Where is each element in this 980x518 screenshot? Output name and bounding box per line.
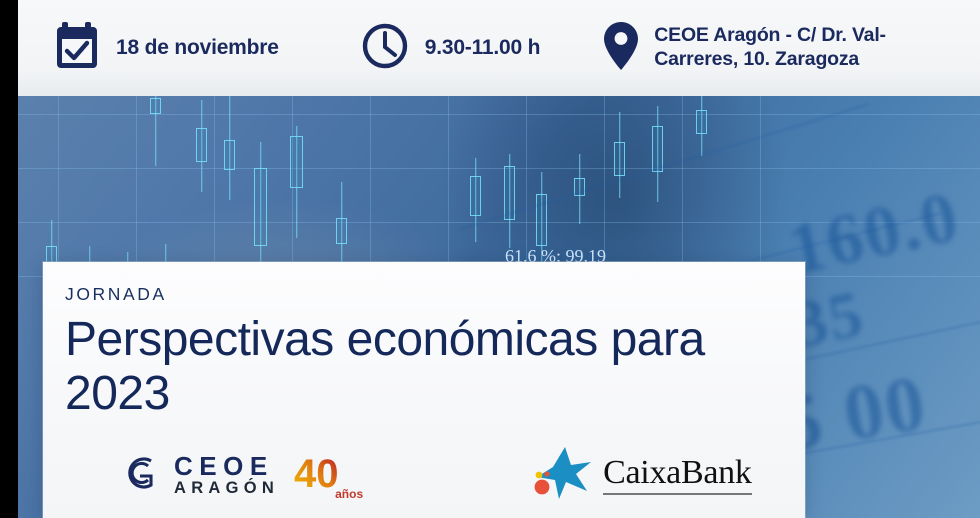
header-place-item: CEOE Aragón - C/ Dr. Val-Carreres, 10. Z…	[604, 21, 922, 76]
header-date-item: 18 de noviembre	[54, 21, 279, 76]
svg-text:40: 40	[294, 452, 339, 495]
ceoe-wordmark-line2: ARAGÓN	[174, 479, 279, 497]
map-pin-icon	[604, 21, 638, 76]
caixabank-wordmark: CaixaBank	[603, 455, 751, 495]
ceoe-monogram-icon	[121, 452, 163, 499]
ceoe-aragon-logo: CEOE ARAGÓN 40 años	[121, 451, 360, 500]
caixabank-logo: CaixaBank	[532, 445, 751, 506]
card-kicker: JORNADA	[65, 284, 805, 305]
anniversary-badge: 40 años	[294, 451, 360, 500]
page-title: Perspectivas económicas para 2023	[65, 313, 805, 421]
ceoe-wordmark-line1: CEOE	[174, 451, 274, 481]
sponsor-logo-row: CEOE ARAGÓN 40 años	[43, 438, 805, 512]
event-info-header: 18 de noviembre 9.30-11.00 h CEOE Aragón…	[18, 0, 980, 96]
ceoe-wordmark: CEOE ARAGÓN	[174, 453, 279, 498]
caixabank-star-icon	[532, 445, 594, 506]
event-title-card: JORNADA Perspectivas económicas para 202…	[43, 262, 805, 518]
calendar-check-icon	[54, 21, 100, 76]
header-date-label: 18 de noviembre	[116, 35, 279, 61]
clock-icon	[361, 22, 409, 75]
header-time-item: 9.30-11.00 h	[361, 22, 541, 75]
header-time-label: 9.30-11.00 h	[425, 35, 541, 61]
event-banner: 160.0 35 5 00 61.6 %: 99.19 104.19 18 de…	[0, 0, 980, 518]
left-gutter	[0, 0, 18, 518]
header-place-label: CEOE Aragón - C/ Dr. Val-Carreres, 10. Z…	[654, 24, 922, 72]
anniversary-word: años	[335, 487, 363, 501]
